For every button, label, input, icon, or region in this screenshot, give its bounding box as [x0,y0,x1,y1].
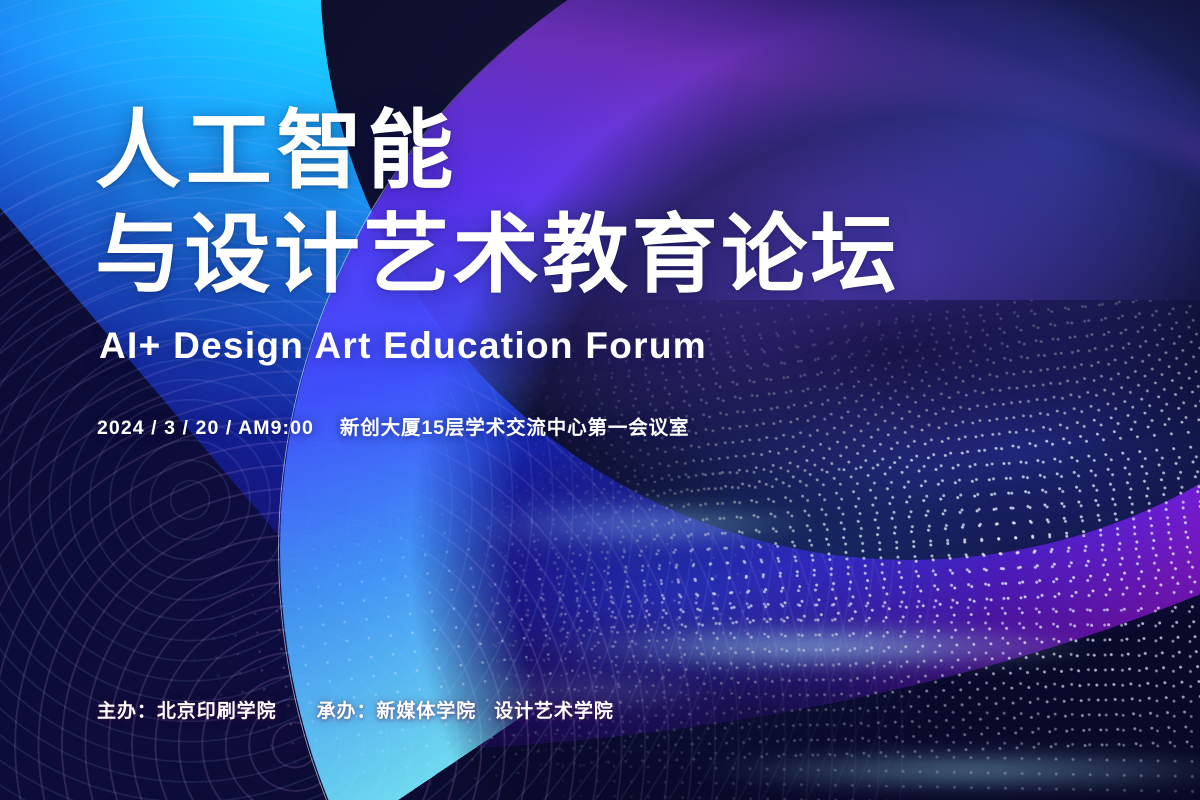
event-venue: 新创大厦15层学术交流中心第一会议室 [340,411,690,440]
co-host-second-label: 设计艺术学院 [494,696,614,723]
host-organizer: 主办：北京印刷学院 [97,696,277,723]
co-host-label: 承办：新媒体学院 [317,701,477,722]
page-title-line-2: 与设计艺术教育论坛 [95,212,1055,300]
poster-content: 人工智能 与设计艺术教育论坛 AI+ Design Art Education … [95,0,1105,800]
title-block: 人工智能 与设计艺术教育论坛 AI+ Design Art Education … [95,108,1055,440]
organizer-row: 主办：北京印刷学院 承办：新媒体学院设计艺术学院 [97,696,614,723]
event-poster: 人工智能 与设计艺术教育论坛 AI+ Design Art Education … [0,0,1200,800]
event-meta-row: 2024 / 3 / 20 / AM9:00 新创大厦15层学术交流中心第一会议… [97,411,1055,440]
subtitle-english: AI+ Design Art Education Forum [99,325,1055,367]
co-host-organizer: 承办：新媒体学院设计艺术学院 [317,696,614,723]
event-datetime: 2024 / 3 / 20 / AM9:00 [97,417,314,440]
page-title-line-1: 人工智能 [95,108,1055,196]
